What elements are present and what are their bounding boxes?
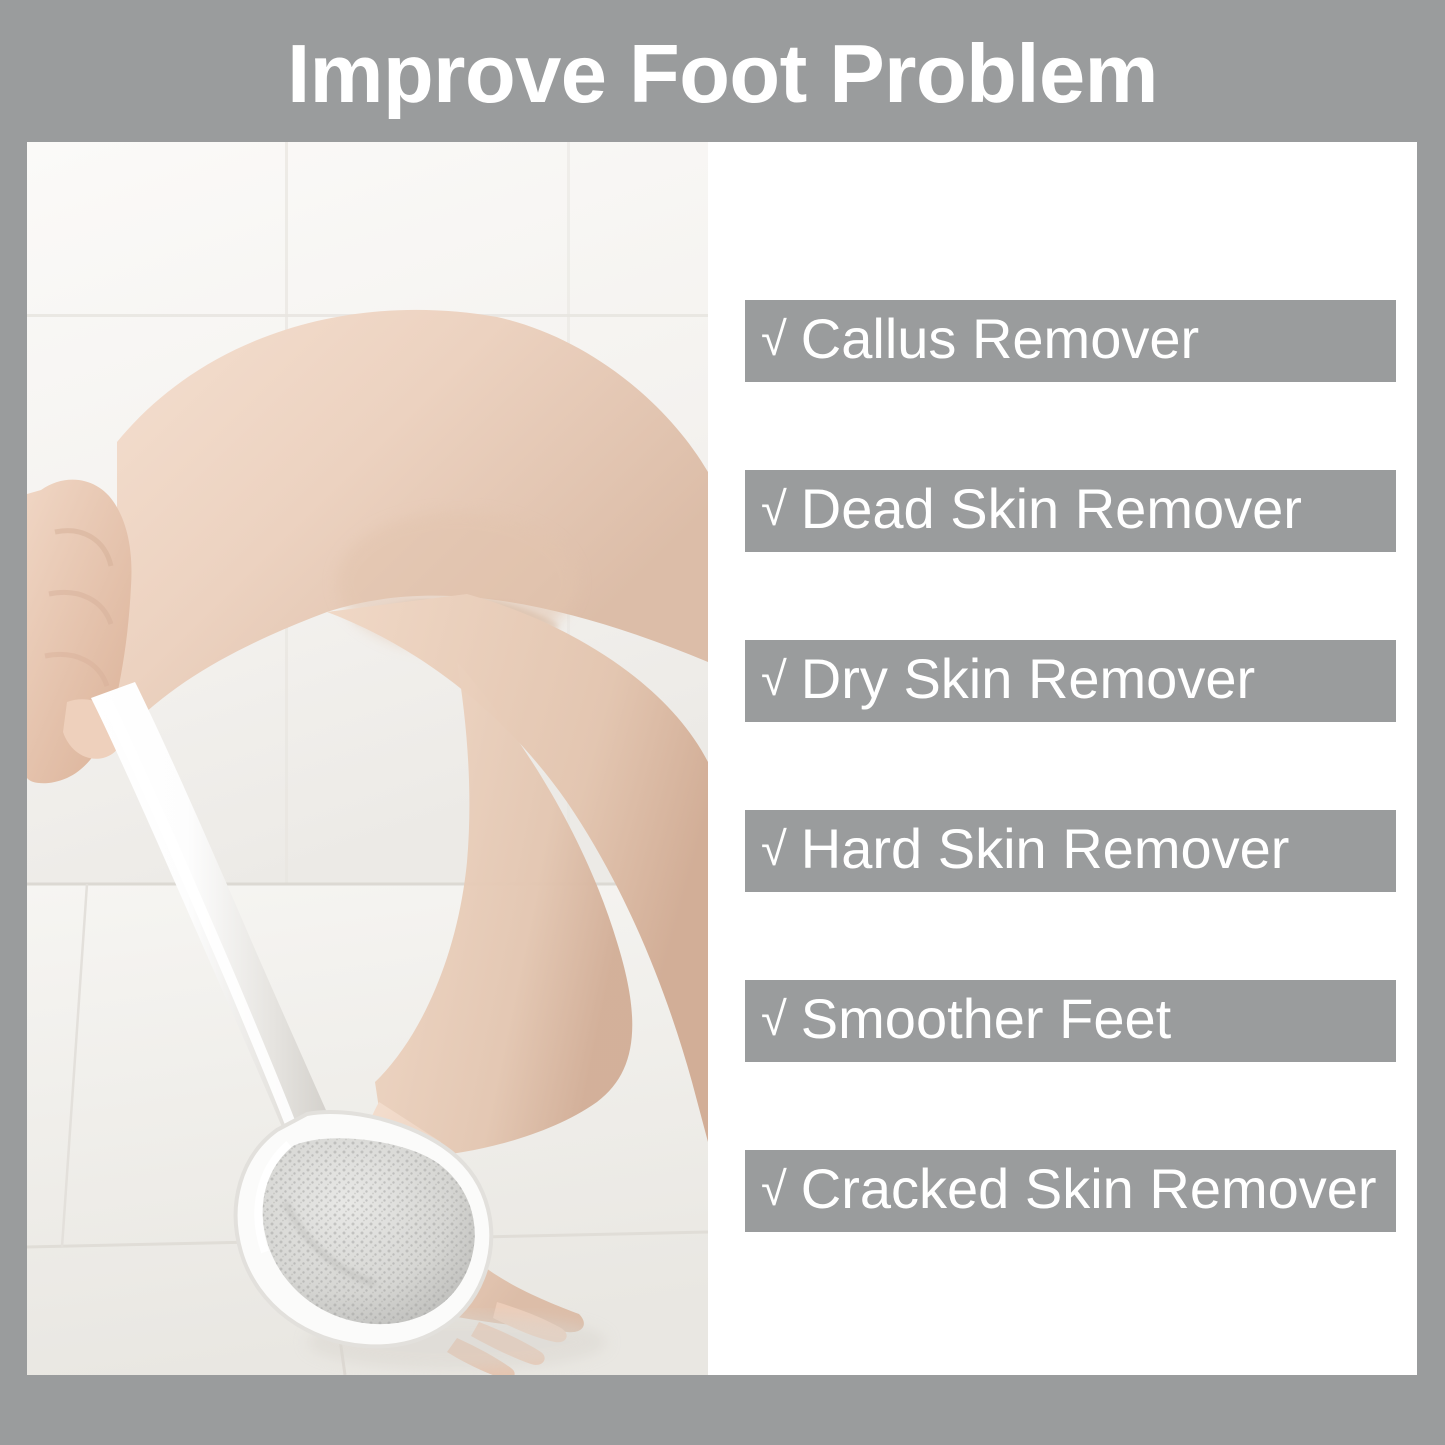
feature-item-smoother-feet[interactable]: √ Smoother Feet	[745, 980, 1396, 1062]
feature-item-callus-remover[interactable]: √ Callus Remover	[745, 300, 1396, 382]
feature-label: Cracked Skin Remover	[801, 1161, 1377, 1217]
product-photo-illustration	[27, 142, 708, 1375]
feature-item-dry-skin-remover[interactable]: √ Dry Skin Remover	[745, 640, 1396, 722]
feature-label: Callus Remover	[801, 311, 1199, 367]
feature-item-dead-skin-remover[interactable]: √ Dead Skin Remover	[745, 470, 1396, 552]
check-icon: √	[761, 1165, 787, 1212]
header-banner: Improve Foot Problem	[0, 0, 1445, 142]
check-icon: √	[761, 655, 787, 702]
feature-list: √ Callus Remover √ Dead Skin Remover √ D…	[745, 142, 1417, 1375]
page-title: Improve Foot Problem	[287, 32, 1158, 115]
feature-item-cracked-skin-remover[interactable]: √ Cracked Skin Remover	[745, 1150, 1396, 1232]
feature-label: Dry Skin Remover	[801, 651, 1255, 707]
feature-label: Smoother Feet	[801, 991, 1171, 1047]
check-icon: √	[761, 485, 787, 532]
check-icon: √	[761, 315, 787, 362]
check-icon: √	[761, 995, 787, 1042]
content-panel: √ Callus Remover √ Dead Skin Remover √ D…	[27, 142, 1417, 1375]
infographic-canvas: Improve Foot Problem	[0, 0, 1445, 1445]
check-icon: √	[761, 825, 787, 872]
product-photo	[27, 142, 708, 1375]
feature-label: Dead Skin Remover	[801, 481, 1302, 537]
feature-item-hard-skin-remover[interactable]: √ Hard Skin Remover	[745, 810, 1396, 892]
feature-label: Hard Skin Remover	[801, 821, 1290, 877]
